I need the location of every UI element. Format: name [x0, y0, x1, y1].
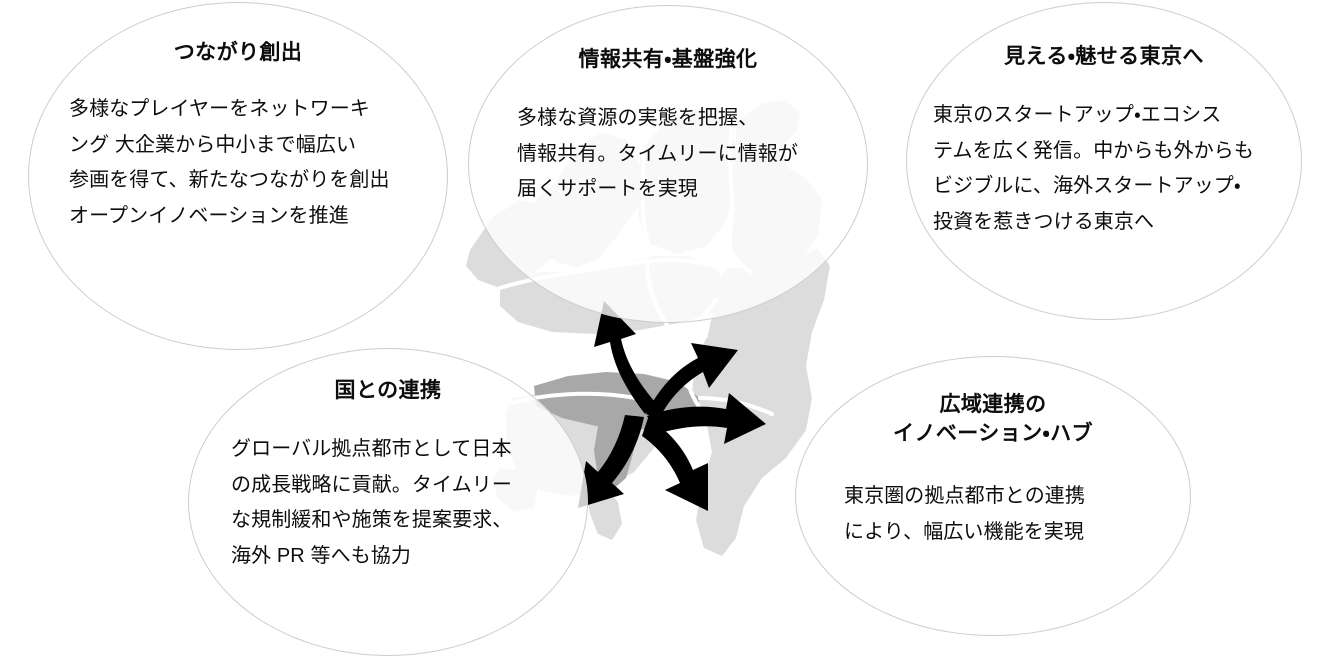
bubble-content: つながり創出 多様なプレイヤーをネットワーキ ング 大企業から中小まで幅広い 参… — [29, 39, 447, 234]
bubble-body: 多様な資源の実態を把握、 情報共有。タイムリーに情報が 届くサポートを実現 — [517, 101, 819, 208]
bubble-content: 国との連携 グローバル拠点都市として日本 の成長戦略に貢献。タイムリー な規制緩… — [189, 377, 587, 574]
bubble-visible-attractive-tokyo[interactable]: 見える・魅せる東京へ 東京のスタートアップ・エコシス テムを広く発信。中からも外… — [906, 2, 1302, 320]
bubble-title: 広域連携の イノベーション・ハブ — [844, 391, 1142, 449]
bubble-body: 東京のスタートアップ・エコシス テムを広く発信。中からも外からも ビジブルに、海… — [933, 98, 1275, 240]
bubble-title: つながり創出 — [69, 39, 407, 68]
bubble-body: 多様なプレイヤーをネットワーキ ング 大企業から中小まで幅広い 参画を得て、新た… — [69, 92, 407, 234]
bubble-title: 国との連携 — [211, 377, 565, 406]
bubble-connection-creation[interactable]: つながり創出 多様なプレイヤーをネットワーキ ング 大企業から中小まで幅広い 参… — [28, 2, 448, 350]
bubble-information-sharing[interactable]: 情報共有・基盤強化 多様な資源の実態を把握、 情報共有。タイムリーに情報が 届く… — [468, 5, 868, 323]
bubble-national-cooperation[interactable]: 国との連携 グローバル拠点都市として日本 の成長戦略に貢献。タイムリー な規制緩… — [188, 348, 588, 656]
bubble-wide-area-innovation-hub[interactable]: 広域連携の イノベーション・ハブ 東京圏の拠点都市との連携 により、幅広い機能を… — [795, 356, 1191, 636]
bubble-content: 広域連携の イノベーション・ハブ 東京圏の拠点都市との連携 により、幅広い機能を… — [796, 391, 1190, 550]
arrow-down-right — [642, 418, 708, 511]
bubble-body: 東京圏の拠点都市との連携 により、幅広い機能を実現 — [844, 479, 1142, 550]
bubble-body: グローバル拠点都市として日本 の成長戦略に貢献。タイムリー な規制緩和や施策を提… — [211, 432, 565, 574]
diagram-canvas: つながり創出 多様なプレイヤーをネットワーキ ング 大企業から中小まで幅広い 参… — [0, 0, 1336, 667]
bubble-content: 情報共有・基盤強化 多様な資源の実態を把握、 情報共有。タイムリーに情報が 届く… — [469, 46, 867, 208]
bubble-title: 情報共有・基盤強化 — [517, 46, 819, 75]
bubble-title: 見える・魅せる東京へ — [933, 43, 1275, 72]
bubble-content: 見える・魅せる東京へ 東京のスタートアップ・エコシス テムを広く発信。中からも外… — [907, 43, 1301, 240]
